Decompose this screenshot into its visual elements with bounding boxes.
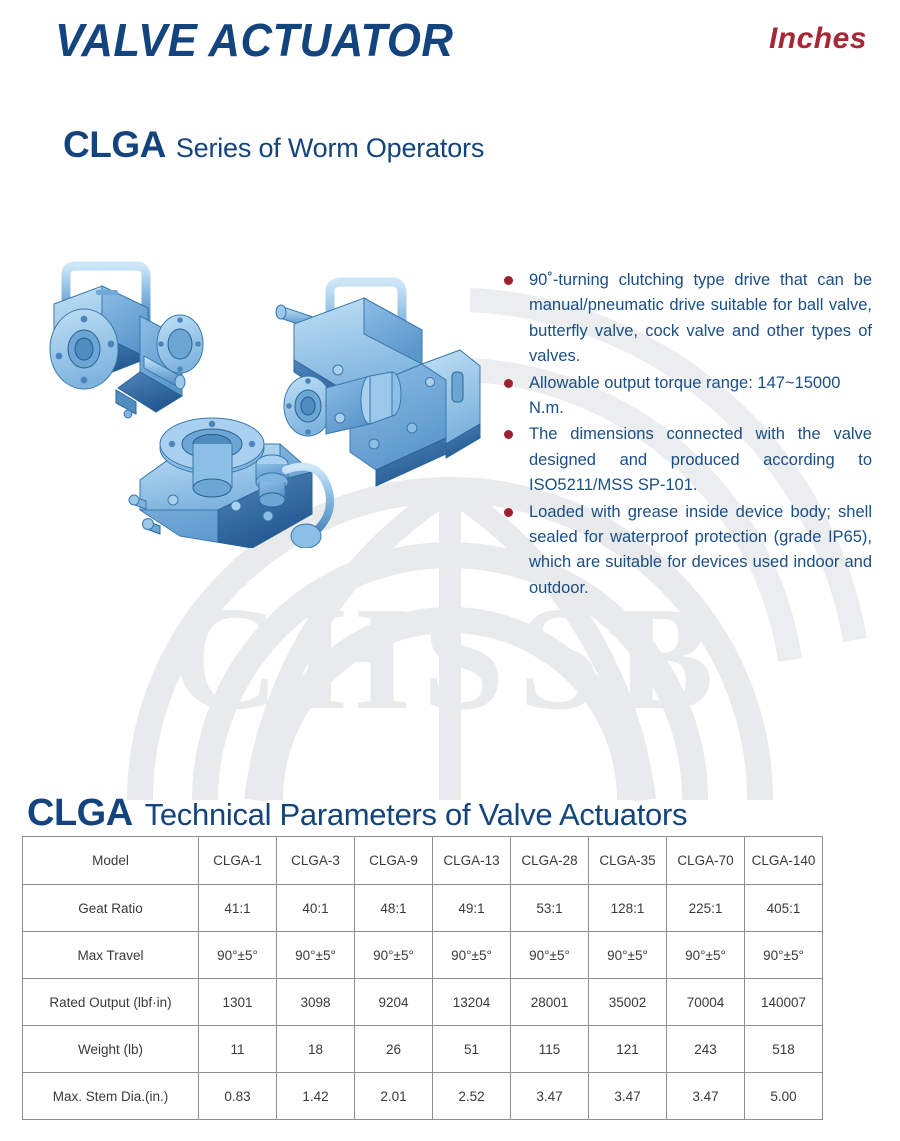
table-cell: 90°±5°	[745, 932, 823, 979]
table-cell: 90°±5°	[511, 932, 589, 979]
table-section-heading: CLGATechnical Parameters of Valve Actuat…	[27, 792, 687, 835]
table-cell: 405:1	[745, 885, 823, 932]
table-cell: 26	[355, 1026, 433, 1073]
feature-list: 90˚-turning clutching type drive that ca…	[500, 268, 872, 602]
row-label: Max Travel	[23, 932, 199, 979]
table-title-description: Technical Parameters of Valve Actuators	[145, 797, 688, 832]
series-description: Series of Worm Operators	[176, 133, 484, 163]
column-header-model-35: CLGA-35	[589, 837, 667, 885]
row-label: Rated Output (lbf·in)	[23, 979, 199, 1026]
table-cell: 18	[277, 1026, 355, 1073]
units-label: Inches	[769, 22, 867, 56]
feature-text: Allowable output torque range: 147~15000…	[529, 371, 872, 422]
table-cell: 5.00	[745, 1073, 823, 1120]
series-code: CLGA	[63, 124, 166, 165]
table-row: Max. Stem Dia.(in.) 0.83 1.42 2.01 2.52 …	[23, 1073, 823, 1120]
feature-item: Loaded with grease inside device body; s…	[500, 500, 872, 602]
row-label: Weight (lb)	[23, 1026, 199, 1073]
bullet-dot-icon	[504, 430, 513, 439]
table-cell: 3.47	[589, 1073, 667, 1120]
table-cell: 48:1	[355, 885, 433, 932]
table-title-code: CLGA	[27, 792, 133, 834]
bullet-dot-icon	[504, 508, 513, 517]
column-header-model-140: CLGA-140	[745, 837, 823, 885]
table-cell: 3.47	[511, 1073, 589, 1120]
series-heading: CLGASeries of Worm Operators	[63, 124, 484, 166]
table-cell: 41:1	[199, 885, 277, 932]
column-header-model-1: CLGA-1	[199, 837, 277, 885]
table-cell: 90°±5°	[589, 932, 667, 979]
table-cell: 53:1	[511, 885, 589, 932]
table-header-row: Model CLGA-1 CLGA-3 CLGA-9 CLGA-13 CLGA-…	[23, 837, 823, 885]
table-cell: 3.47	[667, 1073, 745, 1120]
table-cell: 40:1	[277, 885, 355, 932]
table-cell: 90°±5°	[199, 932, 277, 979]
product-image	[40, 248, 500, 548]
table-cell: 9204	[355, 979, 433, 1026]
table-cell: 51	[433, 1026, 511, 1073]
table-cell: 90°±5°	[355, 932, 433, 979]
table-cell: 28001	[511, 979, 589, 1026]
table-cell: 2.52	[433, 1073, 511, 1120]
table-row: Rated Output (lbf·in) 1301 3098 9204 132…	[23, 979, 823, 1026]
page-title: VALVE ACTUATOR	[55, 13, 453, 67]
table-row: Max Travel 90°±5° 90°±5° 90°±5° 90°±5° 9…	[23, 932, 823, 979]
table-cell: 518	[745, 1026, 823, 1073]
column-header-model-9: CLGA-9	[355, 837, 433, 885]
table-cell: 49:1	[433, 885, 511, 932]
column-header-model-28: CLGA-28	[511, 837, 589, 885]
table-cell: 3098	[277, 979, 355, 1026]
table-cell: 13204	[433, 979, 511, 1026]
table-cell: 140007	[745, 979, 823, 1026]
feature-item: Allowable output torque range: 147~15000…	[500, 371, 872, 422]
table-cell: 70004	[667, 979, 745, 1026]
bullet-dot-icon	[504, 276, 513, 285]
table-cell: 35002	[589, 979, 667, 1026]
feature-item: 90˚-turning clutching type drive that ca…	[500, 268, 872, 370]
table-cell: 1301	[199, 979, 277, 1026]
table-cell: 225:1	[667, 885, 745, 932]
table-cell: 90°±5°	[433, 932, 511, 979]
feature-item: The dimensions connected with the valve …	[500, 422, 872, 498]
column-header-model-13: CLGA-13	[433, 837, 511, 885]
datasheet-page: VALVE ACTUATOR Inches CLGASeries of Worm…	[0, 0, 900, 1136]
feature-text: Loaded with grease inside device body; s…	[529, 500, 872, 602]
table-cell: 90°±5°	[667, 932, 745, 979]
feature-text: The dimensions connected with the valve …	[529, 422, 872, 498]
table-cell: 128:1	[589, 885, 667, 932]
table-cell: 0.83	[199, 1073, 277, 1120]
row-label: Max. Stem Dia.(in.)	[23, 1073, 199, 1120]
feature-text: 90˚-turning clutching type drive that ca…	[529, 268, 872, 370]
table-row: Geat Ratio 41:1 40:1 48:1 49:1 53:1 128:…	[23, 885, 823, 932]
table-cell: 11	[199, 1026, 277, 1073]
table-cell: 2.01	[355, 1073, 433, 1120]
table-cell: 121	[589, 1026, 667, 1073]
row-label: Geat Ratio	[23, 885, 199, 932]
table-cell: 90°±5°	[277, 932, 355, 979]
specifications-table: Model CLGA-1 CLGA-3 CLGA-9 CLGA-13 CLGA-…	[22, 836, 823, 1120]
column-header-model-3: CLGA-3	[277, 837, 355, 885]
table-cell: 243	[667, 1026, 745, 1073]
table-cell: 115	[511, 1026, 589, 1073]
table-cell: 1.42	[277, 1073, 355, 1120]
valve-actuator-illustration-icon	[40, 248, 500, 548]
column-header-model: Model	[23, 837, 199, 885]
table-row: Weight (lb) 11 18 26 51 115 121 243 518	[23, 1026, 823, 1073]
column-header-model-70: CLGA-70	[667, 837, 745, 885]
bullet-dot-icon	[504, 379, 513, 388]
